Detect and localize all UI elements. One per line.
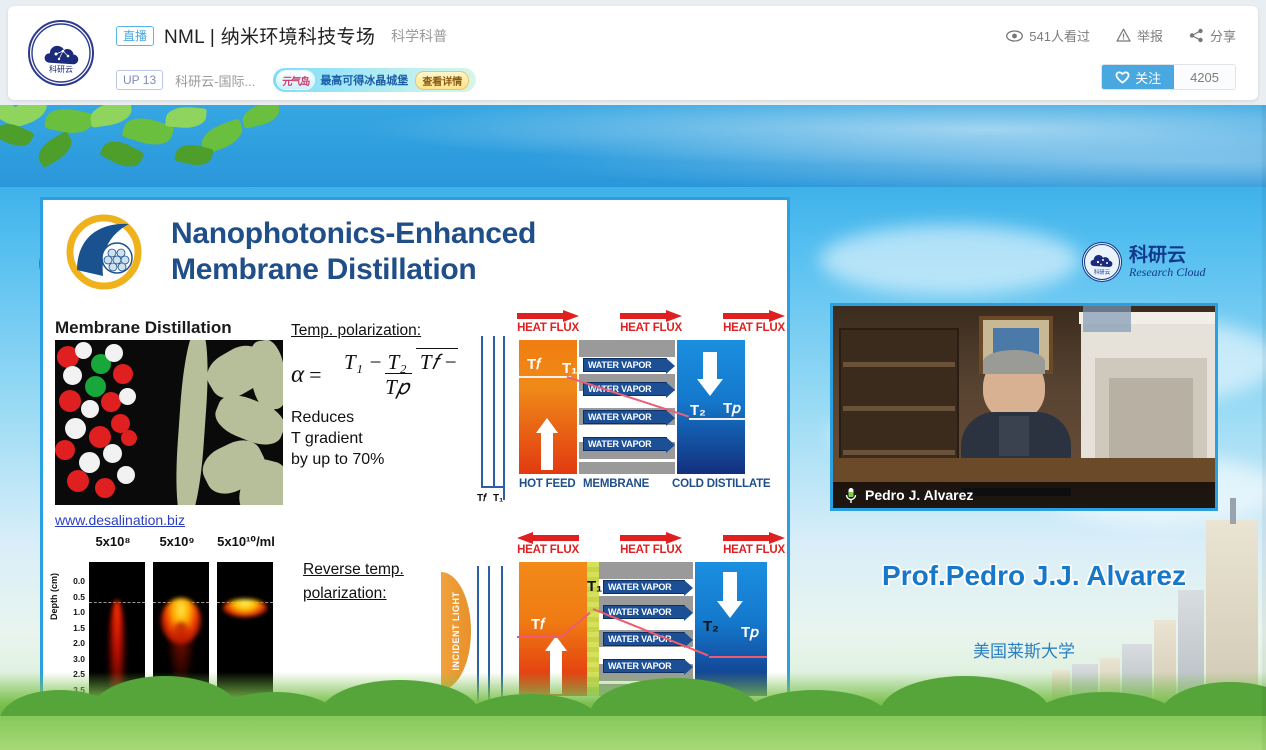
- chart-ytick-4: 2.0: [59, 638, 85, 654]
- membrane-label: MEMBRANE: [583, 478, 649, 490]
- promo-banner[interactable]: 元气岛 最高可得冰晶城堡 查看详情: [273, 68, 476, 92]
- water-vapor-arrow: WATER VAPOR: [583, 437, 667, 451]
- formula-note-line3: by up to 70%: [291, 449, 471, 470]
- research-cloud-cn: 科研云: [1129, 246, 1206, 265]
- video-stage[interactable]: NML Nano-Micro Letters 纳米环境科技专场 科研云 科研云 …: [0, 105, 1266, 750]
- follow-count: 4205: [1174, 65, 1235, 89]
- share-button[interactable]: 分享: [1189, 26, 1236, 45]
- svg-text:科研云: 科研云: [1094, 268, 1111, 276]
- chart-ytick-3: 1.5: [59, 623, 85, 639]
- water-vapor-arrow: WATER VAPOR: [583, 410, 667, 424]
- event-banner: [0, 105, 1266, 187]
- formula-equals: =: [309, 362, 321, 388]
- hot-feed-label: HOT FEED: [519, 478, 576, 490]
- source-url-link[interactable]: www.desalination.biz: [55, 512, 185, 528]
- formula-alpha: α: [291, 361, 304, 389]
- promo-logo: 元气岛: [277, 71, 314, 89]
- temp-label-t2-top: T₂: [690, 402, 706, 419]
- cloud-decoration: [820, 225, 1080, 295]
- page-title: NML | 纳米环境科技专场: [164, 22, 375, 49]
- formula-note-line2: T gradient: [291, 428, 471, 449]
- membrane-distillation-label: Membrane Distillation: [55, 318, 232, 338]
- heat-flux-top-2: HEAT FLUX: [620, 310, 682, 334]
- heat-flux-label: HEAT FLUX: [723, 322, 785, 334]
- warning-icon: [1116, 28, 1131, 43]
- temp-axis-label-t1-top: T₁: [493, 493, 503, 504]
- view-count: 541人看过: [1006, 26, 1090, 45]
- reverse-polarization-block: Reverse temp. polarization:: [303, 558, 453, 606]
- water-vapor-arrow: WATER VAPOR: [603, 580, 685, 594]
- share-icon: [1189, 28, 1204, 43]
- heat-flux-label: HEAT FLUX: [517, 322, 579, 334]
- page-scrollbar[interactable]: [1262, 105, 1266, 750]
- temp-profile-plot-top: T𝑓 T₁: [471, 336, 517, 500]
- up-badge: UP 13: [116, 70, 163, 90]
- reverse-line2: polarization:: [303, 582, 453, 606]
- speaker-tag-label: Pedro J. Alvarez: [865, 487, 973, 503]
- research-cloud-en: Research Cloud: [1129, 265, 1206, 279]
- stream-header: 科研云 直播 NML | 纳米环境科技专场 科学科普 UP 13 科研云-国际.…: [8, 6, 1258, 100]
- research-cloud-text: 科研云 Research Cloud: [1129, 246, 1206, 279]
- heat-flux-bottom-2: HEAT FLUX: [620, 532, 682, 556]
- formula-equation: α = T₁ − T₂ T𝑓 − T𝑝: [291, 350, 471, 400]
- temp-label-tf-bottom: T𝑓: [531, 616, 545, 633]
- formula-note: Reduces T gradient by up to 70%: [291, 407, 471, 470]
- chart-category-2: 5x10¹⁰/ml: [213, 534, 279, 550]
- temp-label-tf-top: T𝑓: [527, 356, 541, 373]
- chart-category-1: 5x10⁹: [149, 534, 205, 550]
- follow-label: 关注: [1135, 68, 1161, 87]
- md-diagram-top: HEAT FLUX HEAT FLUX HEAT FLUX: [517, 310, 785, 500]
- follow-button[interactable]: 关注: [1102, 65, 1174, 89]
- follow-control: 关注 4205: [1101, 64, 1236, 90]
- category-label[interactable]: 科学科普: [391, 26, 447, 46]
- uploader-name[interactable]: 科研云-国际...: [175, 71, 255, 90]
- formula-note-line1: Reduces: [291, 407, 471, 428]
- speaker-video[interactable]: Pedro J. Alvarez: [830, 303, 1218, 511]
- header-title-row: 直播 NML | 纳米环境科技专场 科学科普: [116, 22, 447, 49]
- promo-text: 最高可得冰晶城堡: [320, 72, 408, 88]
- temp-axis-label-tf-top: T𝑓: [477, 493, 486, 504]
- heat-flux-label: HEAT FLUX: [620, 544, 682, 556]
- cold-distillate-label: COLD DISTILLATE: [672, 478, 770, 490]
- temp-label-t2-bottom: T₂: [703, 618, 719, 635]
- greenery-decoration: [0, 672, 1266, 750]
- presentation-slide: Nanophotonics-Enhanced Membrane Distilla…: [40, 197, 790, 750]
- header-actions: 541人看过 举报 分享: [980, 26, 1236, 45]
- research-cloud-mark-icon: 科研云: [1082, 242, 1122, 282]
- microphone-icon: [845, 487, 857, 503]
- slide-title-line1: Nanophotonics-Enhanced: [171, 216, 536, 252]
- water-vapor-arrow: WATER VAPOR: [603, 659, 685, 673]
- live-badge: 直播: [116, 26, 154, 46]
- slide-title-line2: Membrane Distillation: [171, 252, 536, 288]
- heat-flux-label: HEAT FLUX: [620, 322, 682, 334]
- eye-icon: [1006, 30, 1023, 42]
- temp-label-t1-bottom: T₁: [587, 578, 602, 595]
- reverse-line1: Reverse temp.: [303, 558, 453, 582]
- chart-category-0: 5x10⁸: [85, 534, 141, 550]
- report-label: 举报: [1137, 26, 1163, 45]
- research-cloud-logo: 科研云 科研云 Research Cloud: [1082, 242, 1206, 282]
- leaves-decoration: [0, 105, 320, 187]
- temp-label-tp-top: T𝑝: [723, 400, 741, 417]
- temp-polarization-block: Temp. polarization: α = T₁ − T₂ T𝑓 − T𝑝 …: [291, 322, 471, 470]
- water-vapor-arrow: WATER VAPOR: [603, 632, 685, 646]
- slide-title: Nanophotonics-Enhanced Membrane Distilla…: [171, 216, 536, 288]
- heat-flux-label: HEAT FLUX: [517, 544, 579, 556]
- heart-icon: [1115, 70, 1130, 84]
- heat-flux-top-1: HEAT FLUX: [517, 310, 579, 334]
- research-cloud-avatar-icon: 科研云: [30, 22, 92, 84]
- formula-fraction: T₁ − T₂ T𝑓 − T𝑝: [327, 350, 471, 400]
- slide-content: Nanophotonics-Enhanced Membrane Distilla…: [43, 200, 787, 747]
- nml-wave-logo-icon: [63, 214, 145, 290]
- heat-flux-bottom-3: HEAT FLUX: [723, 532, 785, 556]
- share-label: 分享: [1210, 26, 1236, 45]
- header-uploader-row: UP 13 科研云-国际... 元气岛 最高可得冰晶城堡 查看详情: [116, 68, 476, 92]
- avatar[interactable]: 科研云: [28, 20, 94, 86]
- heat-flux-top-3: HEAT FLUX: [723, 310, 785, 334]
- chart-ytick-1: 0.5: [59, 592, 85, 608]
- promo-detail-button[interactable]: 查看详情: [415, 71, 469, 90]
- temp-label-tp-bottom: T𝑝: [741, 624, 759, 641]
- chart-ylabel: Depth (cm): [49, 573, 59, 620]
- svg-text:科研云: 科研云: [49, 64, 73, 74]
- incident-light-label: INCIDENT LIGHT: [451, 592, 461, 671]
- formula-heading: Temp. polarization:: [291, 322, 471, 340]
- chart-ytick-0: 0.0: [59, 576, 85, 592]
- chart-ytick-2: 1.0: [59, 607, 85, 623]
- view-count-label: 541人看过: [1029, 26, 1090, 45]
- video-room-background: [833, 306, 1215, 508]
- membrane-photo: [55, 340, 283, 505]
- water-vapor-arrow: WATER VAPOR: [583, 358, 667, 372]
- temp-label-t1-top: T₁: [562, 360, 577, 377]
- report-button[interactable]: 举报: [1116, 26, 1163, 45]
- page-root: 科研云 直播 NML | 纳米环境科技专场 科学科普 UP 13 科研云-国际.…: [0, 0, 1266, 750]
- formula-numerator: T₁ − T₂: [340, 350, 411, 375]
- heat-flux-label: HEAT FLUX: [723, 544, 785, 556]
- heat-flux-bottom-1: HEAT FLUX: [517, 532, 579, 556]
- chart-category-labels: 5x10⁸ 5x10⁹ 5x10¹⁰/ml: [85, 534, 295, 550]
- chart-ytick-5: 3.0: [59, 654, 85, 670]
